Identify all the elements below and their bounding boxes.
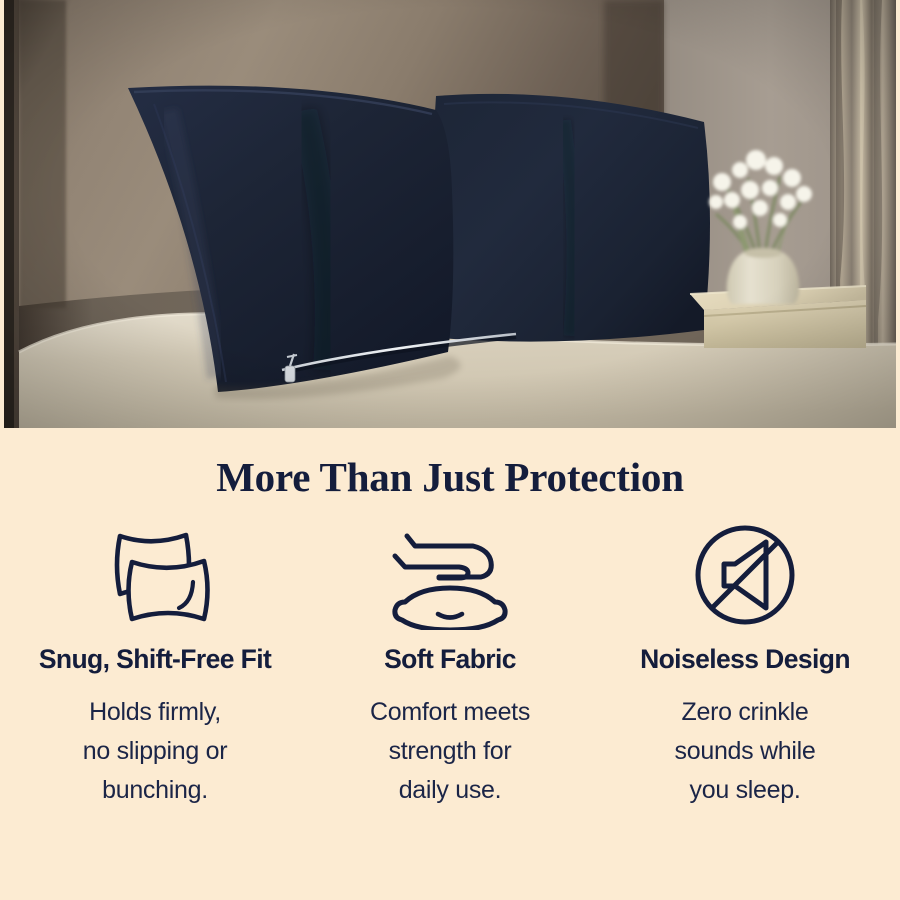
- desc-line: you sleep.: [675, 771, 816, 810]
- feature-title: Snug, Shift-Free Fit: [39, 644, 271, 675]
- feature-noiseless-design: Noiseless Design Zero crinkle sounds whi…: [598, 520, 892, 810]
- desc-line: daily use.: [370, 771, 530, 810]
- feature-list: Snug, Shift-Free Fit Holds firmly, no sl…: [0, 520, 900, 810]
- desc-line: Holds firmly,: [83, 693, 228, 732]
- muted-speaker-icon: [690, 520, 800, 630]
- feature-description: Comfort meets strength for daily use.: [370, 693, 530, 810]
- feature-title: Noiseless Design: [640, 644, 850, 675]
- desc-line: Comfort meets: [370, 693, 530, 732]
- feature-description: Zero crinkle sounds while you sleep.: [675, 693, 816, 810]
- hero-photo: [4, 0, 896, 428]
- stacked-pillows-icon: [80, 520, 230, 630]
- vignette: [4, 0, 896, 428]
- desc-line: strength for: [370, 732, 530, 771]
- desc-line: bunching.: [83, 771, 228, 810]
- feature-snug-shift-free-fit: Snug, Shift-Free Fit Holds firmly, no sl…: [8, 520, 302, 810]
- feature-description: Holds firmly, no slipping or bunching.: [83, 693, 228, 810]
- hand-on-soft-pillow-icon: [385, 520, 515, 630]
- desc-line: Zero crinkle: [675, 693, 816, 732]
- feature-title: Soft Fabric: [384, 644, 516, 675]
- desc-line: no slipping or: [83, 732, 228, 771]
- product-feature-card: More Than Just Protection Snug, Shift-Fr…: [0, 0, 900, 900]
- feature-soft-fabric: Soft Fabric Comfort meets strength for d…: [303, 520, 597, 810]
- desc-line: sounds while: [675, 732, 816, 771]
- page-title: More Than Just Protection: [0, 453, 900, 501]
- bedroom-scene-illustration: [4, 0, 896, 428]
- features-panel: More Than Just Protection Snug, Shift-Fr…: [0, 428, 900, 900]
